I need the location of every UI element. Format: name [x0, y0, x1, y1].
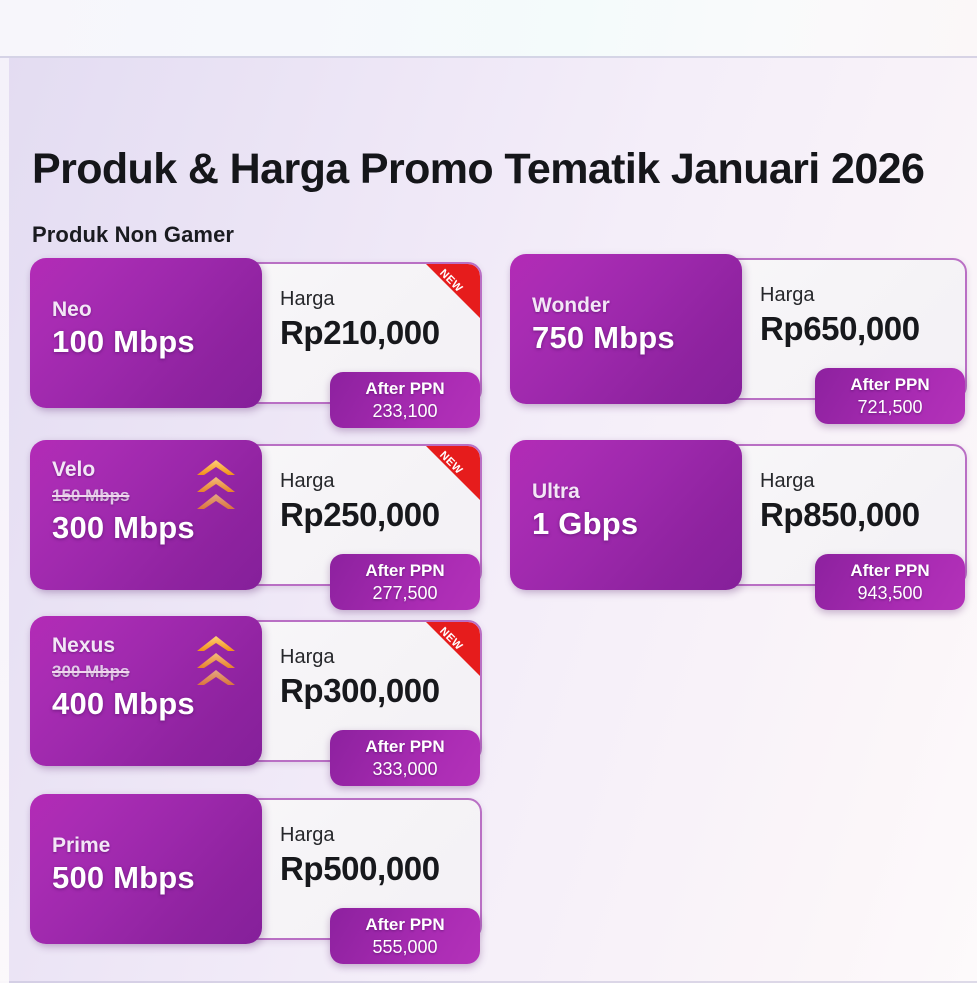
- product-speed: 750 Mbps: [532, 320, 675, 356]
- price-label: Harga: [280, 470, 334, 493]
- new-badge-label: NEW: [428, 264, 475, 304]
- promo-slide: Produk & Harga Promo Tematik Januari 202…: [0, 0, 977, 1000]
- price-value: Rp300,000: [280, 672, 440, 710]
- new-badge-ribbon: NEW: [424, 622, 480, 678]
- product-speed: 300 Mbps: [52, 510, 195, 546]
- upgrade-chevrons-icon: [194, 458, 238, 518]
- ribbon-triangle: [424, 264, 480, 320]
- price-label: Harga: [280, 646, 334, 669]
- new-badge-ribbon: NEW: [424, 446, 480, 502]
- product-speed: 100 Mbps: [52, 324, 195, 360]
- product-speed-panel: Neo100 Mbps: [30, 258, 262, 408]
- after-ppn-value: 277,500: [330, 583, 480, 604]
- after-ppn-value: 943,500: [815, 583, 965, 604]
- after-ppn-badge: After PPN277,500: [330, 554, 480, 610]
- product-name: Velo: [52, 458, 95, 482]
- product-speed-panel: Ultra1 Gbps: [510, 440, 742, 590]
- upgrade-chevrons-icon: [194, 634, 238, 694]
- product-card[interactable]: Prime500 MbpsHargaRp500,000After PPN555,…: [32, 798, 482, 940]
- price-value: Rp850,000: [760, 496, 920, 534]
- product-name: Wonder: [532, 294, 610, 318]
- after-ppn-label: After PPN: [330, 915, 480, 935]
- after-ppn-value: 555,000: [330, 937, 480, 958]
- price-value: Rp210,000: [280, 314, 440, 352]
- after-ppn-badge: After PPN943,500: [815, 554, 965, 610]
- price-label: Harga: [760, 470, 814, 493]
- price-value: Rp250,000: [280, 496, 440, 534]
- product-card[interactable]: Ultra1 GbpsHargaRp850,000After PPN943,50…: [512, 444, 967, 586]
- after-ppn-badge: After PPN333,000: [330, 730, 480, 786]
- after-ppn-label: After PPN: [815, 561, 965, 581]
- new-badge-label: NEW: [428, 622, 475, 662]
- after-ppn-badge: After PPN721,500: [815, 368, 965, 424]
- price-value: Rp500,000: [280, 850, 440, 888]
- left-gutter: [0, 58, 9, 983]
- price-label: Harga: [760, 284, 814, 307]
- price-label: Harga: [280, 824, 334, 847]
- product-speed-panel: Wonder750 Mbps: [510, 254, 742, 404]
- product-name: Ultra: [532, 480, 580, 504]
- after-ppn-value: 233,100: [330, 401, 480, 422]
- product-speed: 400 Mbps: [52, 686, 195, 722]
- product-old-speed: 150 Mbps: [52, 486, 129, 506]
- product-speed-panel: Velo150 Mbps300 Mbps: [30, 440, 262, 590]
- price-label: Harga: [280, 288, 334, 311]
- product-name: Neo: [52, 298, 92, 322]
- new-badge-ribbon: NEW: [424, 264, 480, 320]
- product-speed: 1 Gbps: [532, 506, 638, 542]
- product-card[interactable]: Wonder750 MbpsHargaRp650,000After PPN721…: [512, 258, 967, 400]
- ribbon-triangle: [424, 446, 480, 502]
- product-name: Prime: [52, 834, 110, 858]
- product-card[interactable]: NEWNeo100 MbpsHargaRp210,000After PPN233…: [32, 262, 482, 404]
- upgrade-indicator: [194, 458, 238, 518]
- after-ppn-label: After PPN: [330, 737, 480, 757]
- product-card[interactable]: NEWNexus300 Mbps400 MbpsHargaRp300,000Af…: [32, 620, 482, 762]
- new-badge-label: NEW: [428, 446, 475, 486]
- price-value: Rp650,000: [760, 310, 920, 348]
- after-ppn-label: After PPN: [815, 375, 965, 395]
- after-ppn-label: After PPN: [330, 379, 480, 399]
- upgrade-indicator: [194, 634, 238, 694]
- after-ppn-badge: After PPN233,100: [330, 372, 480, 428]
- product-speed-panel: Prime500 Mbps: [30, 794, 262, 944]
- after-ppn-badge: After PPN555,000: [330, 908, 480, 964]
- after-ppn-label: After PPN: [330, 561, 480, 581]
- after-ppn-value: 333,000: [330, 759, 480, 780]
- product-speed-panel: Nexus300 Mbps400 Mbps: [30, 616, 262, 766]
- page-title: Produk & Harga Promo Tematik Januari 202…: [32, 145, 962, 194]
- window-top-strip: [0, 0, 977, 58]
- product-old-speed: 300 Mbps: [52, 662, 129, 682]
- section-label: Produk Non Gamer: [32, 222, 234, 248]
- product-card[interactable]: NEWVelo150 Mbps300 MbpsHargaRp250,000Aft…: [32, 444, 482, 586]
- ribbon-triangle: [424, 622, 480, 678]
- product-speed: 500 Mbps: [52, 860, 195, 896]
- product-name: Nexus: [52, 634, 115, 658]
- after-ppn-value: 721,500: [815, 397, 965, 418]
